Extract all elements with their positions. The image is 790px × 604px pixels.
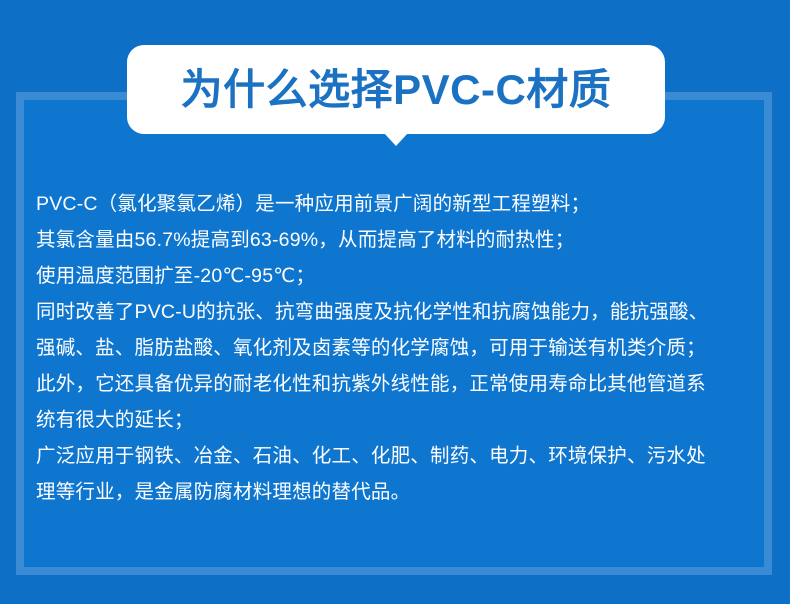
title-card: 为什么选择PVC-C材质	[127, 45, 665, 134]
body-line: 强碱、盐、脂肪盐酸、氧化剂及卤素等的化学腐蚀，可用于输送有机类介质；	[36, 330, 760, 366]
body-line: 使用温度范围扩至-20℃-95℃；	[36, 258, 760, 294]
title-card-pointer-icon	[384, 133, 408, 146]
page-title: 为什么选择PVC-C材质	[181, 69, 612, 111]
promo-banner: 为什么选择PVC-C材质 PVC-C（氯化聚氯乙烯）是一种应用前景广阔的新型工程…	[0, 0, 790, 604]
body-line: 统有很大的延长；	[36, 402, 760, 438]
body-line: 广泛应用于钢铁、冶金、石油、化工、化肥、制药、电力、环境保护、污水处	[36, 438, 760, 474]
body-line: 其氯含量由56.7%提高到63-69%，从而提高了材料的耐热性；	[36, 222, 760, 258]
body-line: 同时改善了PVC-U的抗张、抗弯曲强度及抗化学性和抗腐蚀能力，能抗强酸、	[36, 294, 760, 330]
body-line: 理等行业，是金属防腐材料理想的替代品。	[36, 474, 760, 510]
body-copy: PVC-C（氯化聚氯乙烯）是一种应用前景广阔的新型工程塑料； 其氯含量由56.7…	[36, 186, 760, 510]
body-line: PVC-C（氯化聚氯乙烯）是一种应用前景广阔的新型工程塑料；	[36, 186, 760, 222]
body-line: 此外，它还具备优异的耐老化性和抗紫外线性能，正常使用寿命比其他管道系	[36, 366, 760, 402]
